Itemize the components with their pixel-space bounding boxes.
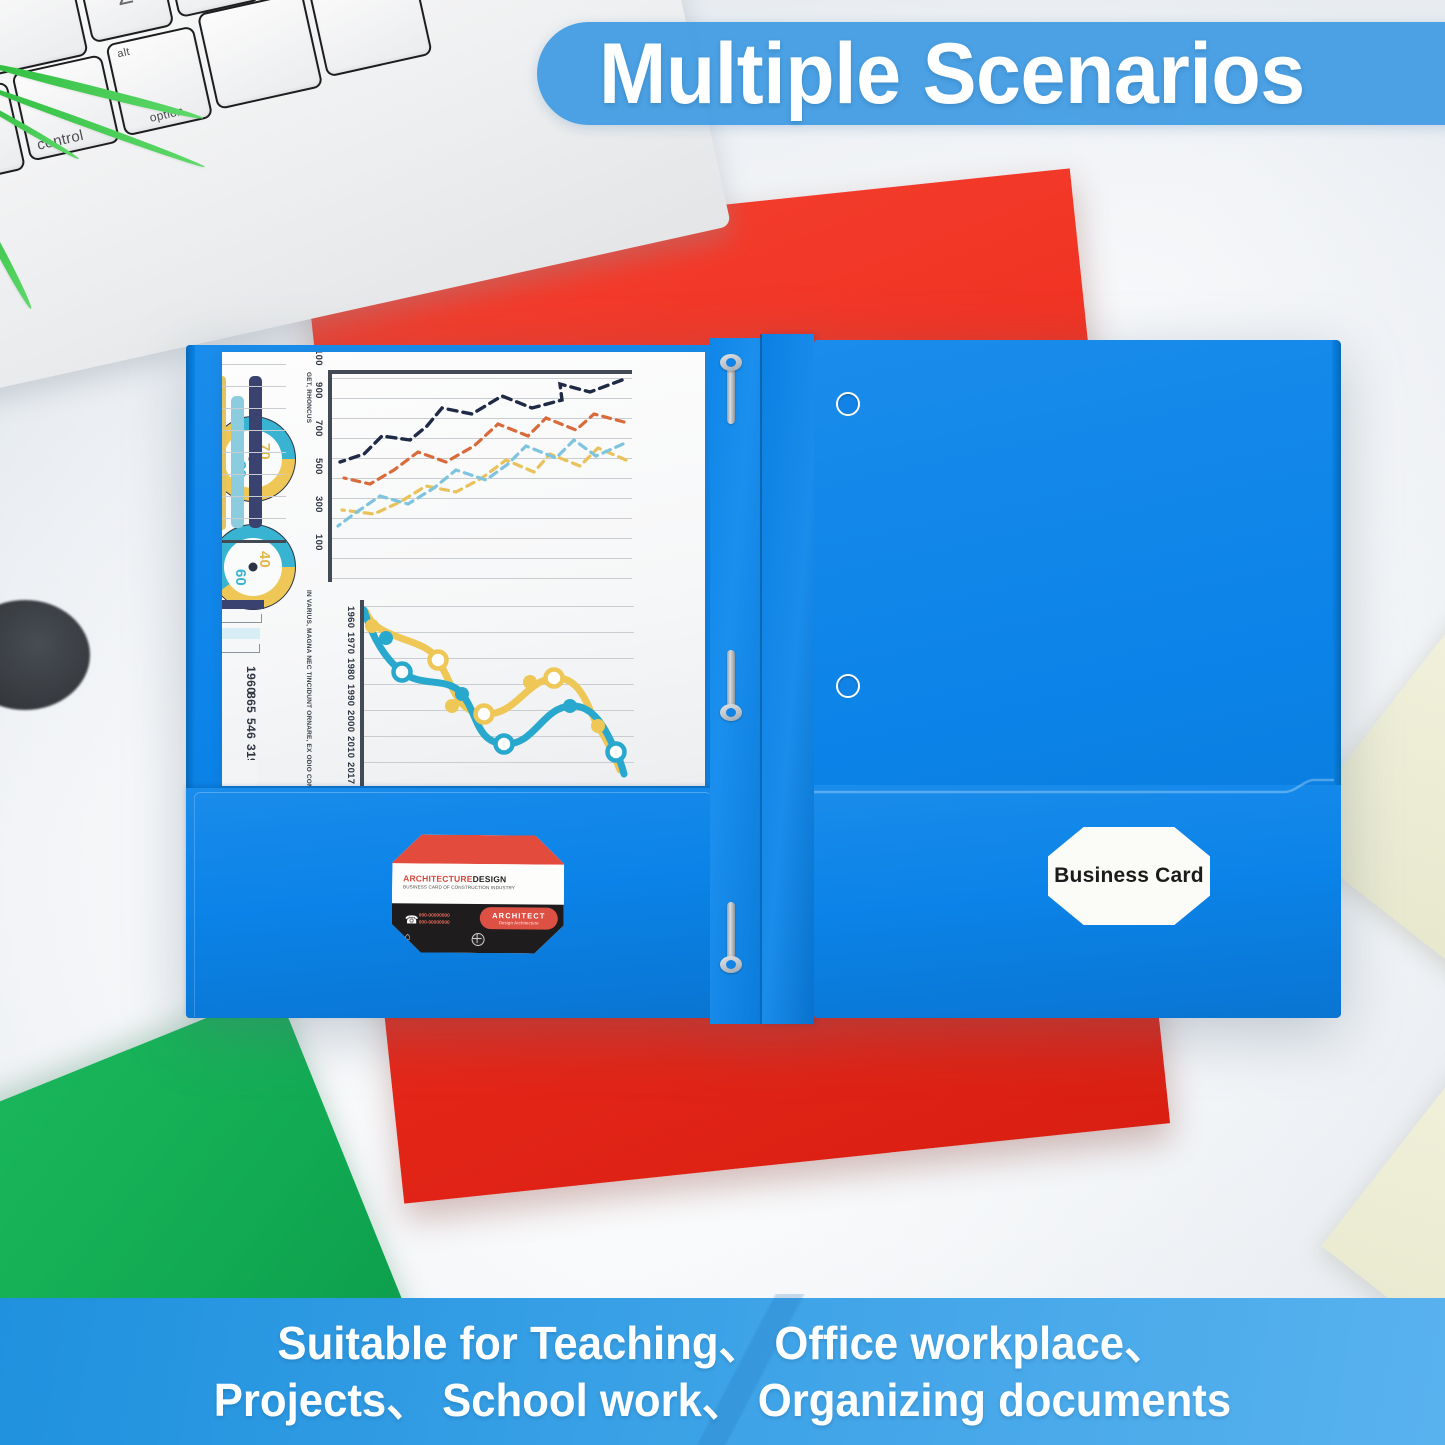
bar-value: 1960 xyxy=(244,666,258,694)
punch-hole-top xyxy=(836,392,860,416)
prong-washer xyxy=(720,354,742,371)
footer-line-2: Projects、 School work、 Organizing docume… xyxy=(214,1374,1231,1426)
footer-line-1: Suitable for Teaching、 Office workplace、 xyxy=(277,1317,1167,1369)
tick-label: 1100 xyxy=(313,352,324,366)
architecture-business-card: ARCHITECTUREDESIGN BUSINESS CARD OF CONS… xyxy=(391,834,564,953)
tick-label: 2017 xyxy=(345,762,356,784)
tick-label: 2000 xyxy=(345,710,356,732)
tick-label: 1960 xyxy=(345,606,356,628)
tick-label: 500 xyxy=(313,458,324,475)
card-role-pill: ARCHITECT Design Architecture xyxy=(480,907,558,930)
tick-label: 900 xyxy=(313,382,324,399)
hbar-axis xyxy=(222,540,286,543)
key-z-label: Z xyxy=(114,0,135,12)
donut-b-value-2: 60 xyxy=(232,569,249,586)
gridline xyxy=(222,474,286,475)
key-alt-label: alt xyxy=(116,46,131,60)
tick-label: 1990 xyxy=(345,684,356,706)
prong-bar xyxy=(727,366,735,424)
chart2-axis-bottom xyxy=(360,600,364,786)
chart-axis-left xyxy=(330,370,632,374)
donut-b-value-1: 40 xyxy=(256,551,273,568)
smooth-series-svg xyxy=(359,602,634,786)
tick-label: 100 xyxy=(313,534,324,551)
donut-chart-b: 40 60 xyxy=(222,524,296,610)
card-phone-numbers: 000-00000000 000-00000000 xyxy=(419,912,450,927)
gridline xyxy=(222,386,286,387)
card-brand: ARCHITECTUREDESIGN xyxy=(403,873,506,884)
punch-hole-middle xyxy=(836,674,860,698)
tick-label: 700 xyxy=(313,420,324,437)
tick-label: 300 xyxy=(313,496,324,513)
card-tagline: BUSINESS CARD OF CONSTRUCTION INDUSTRY xyxy=(403,884,515,890)
card-role-sub: Design Architecture xyxy=(499,920,539,925)
footer-banner: Suitable for Teaching、 Office workplace、… xyxy=(0,1298,1445,1445)
document-rotated-content: 1100 900 700 500 300 100 xyxy=(222,352,656,786)
bar-value: 865 xyxy=(244,692,258,713)
tick-label: 1980 xyxy=(345,658,356,680)
desk-object-left xyxy=(0,600,90,710)
card-phone-2: 000-00000000 xyxy=(419,920,450,927)
vbar-bracket-2 xyxy=(222,644,260,653)
card-brand-bottom: DESIGN xyxy=(473,874,507,884)
chart-axis-bottom xyxy=(329,370,333,582)
chart-smooth-curves xyxy=(364,602,634,786)
prong-washer xyxy=(720,956,742,973)
headline-banner: Multiple Scenarios xyxy=(537,22,1445,125)
vbar-navy xyxy=(222,600,264,609)
card-role: ARCHITECT xyxy=(492,911,545,920)
globe-icon xyxy=(472,933,485,946)
gridline xyxy=(222,496,286,497)
prong-fastener-bottom[interactable] xyxy=(720,900,742,978)
tick-label: 1970 xyxy=(345,632,356,654)
document-corner-tab xyxy=(223,760,257,786)
card-brand-top: ARCHITECTURE xyxy=(403,873,473,884)
inserted-document: 1100 900 700 500 300 100 xyxy=(222,352,705,786)
dashed-series-svg xyxy=(332,374,632,580)
vbar-bracket-1 xyxy=(222,614,262,623)
bar-value: 546 xyxy=(244,718,258,739)
product-marketing-image: caps lock shift Z X C fn control altopti… xyxy=(0,0,1445,1445)
main-folder: 1100 900 700 500 300 100 xyxy=(186,330,1341,1020)
business-card-slot-label: Business Card xyxy=(1054,864,1204,888)
prong-fastener-top[interactable] xyxy=(720,354,742,428)
gridline xyxy=(222,364,286,365)
prong-bar xyxy=(727,650,735,708)
gridline xyxy=(222,518,286,519)
phone-icon: ☎ xyxy=(405,913,419,926)
prong-bar xyxy=(727,902,735,960)
hbar-teal xyxy=(231,396,244,528)
tick-label: 2010 xyxy=(345,736,356,758)
business-card-slot: Business Card xyxy=(1048,827,1210,925)
document-caption-sub: GET, RHONCUS xyxy=(305,372,312,423)
folder-spine-right xyxy=(762,334,814,1024)
headline-text: Multiple Scenarios xyxy=(599,31,1305,117)
gridline xyxy=(222,452,286,453)
gridline xyxy=(222,430,286,431)
chart-dashed-lines xyxy=(332,374,632,580)
gridline xyxy=(222,408,286,409)
prong-fastener-middle[interactable] xyxy=(720,648,742,724)
vbar-light xyxy=(222,628,260,639)
document-caption-main: IN VARIUS, MAGNA NEC TINCIDUNT ORNARE, E… xyxy=(305,590,312,786)
prong-washer xyxy=(720,704,742,721)
